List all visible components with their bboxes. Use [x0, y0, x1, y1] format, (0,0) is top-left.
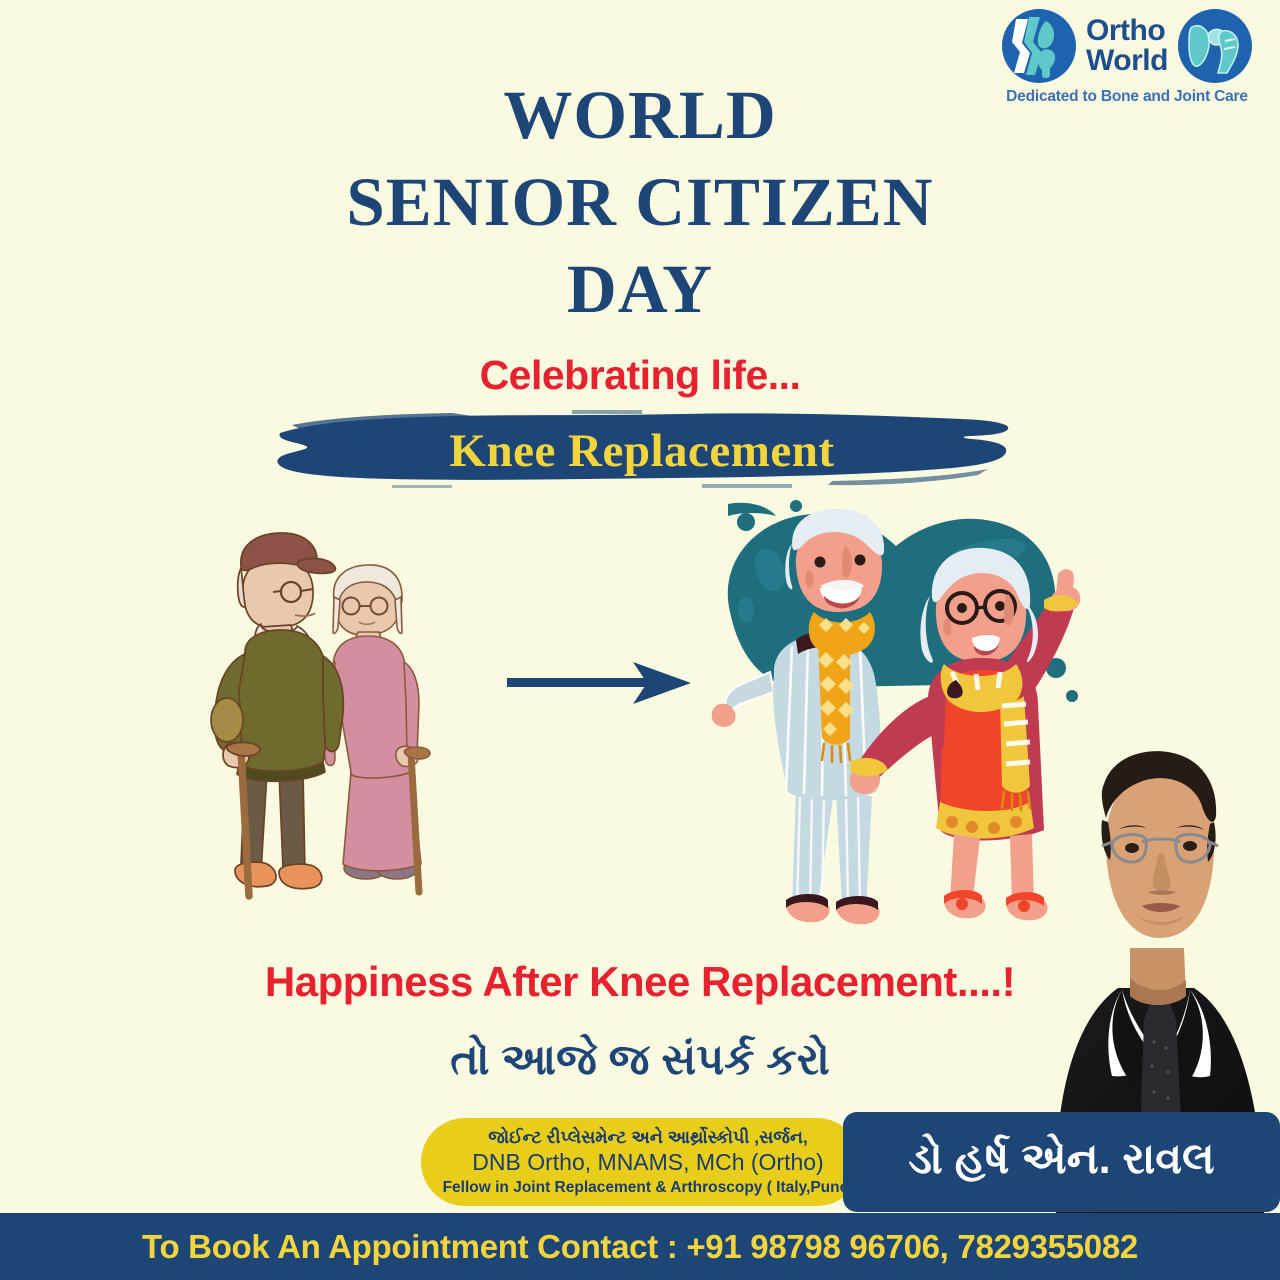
logo-wordmark: Ortho World [1086, 16, 1168, 76]
cta-gujarati-text: તો આજે જ સંપર્ક કરો [0, 1036, 1280, 1085]
logo-name-line1: Ortho [1086, 16, 1168, 46]
happiness-tagline: Happiness After Knee Replacement....! [0, 958, 1280, 1006]
poster-canvas: Ortho World Dedicated to Bone and Joint … [0, 0, 1280, 1280]
elderly-couple-with-canes-illustration [183, 472, 488, 932]
credentials-badge: જોઈન્ટ રીપ્લેસમેન્ટ અને આર્થ્રોસ્કોપી ,સ… [421, 1118, 861, 1206]
appointment-contact-text[interactable]: To Book An Appointment Contact : +91 987… [142, 1228, 1138, 1266]
credentials-line-1: જોઈન્ટ રીપ્લેસમેન્ટ અને આર્થ્રોસ્કોપી ,સ… [488, 1126, 808, 1148]
transformation-arrow [505, 648, 695, 718]
title-line-2: SENIOR CITIZEN [0, 159, 1280, 246]
title-line-3: DAY [0, 246, 1280, 333]
appointment-contact-bar: To Book An Appointment Contact : +91 987… [0, 1213, 1280, 1280]
credentials-line-3: Fellow in Joint Replacement & Arthroscop… [443, 1178, 854, 1198]
credentials-line-2: DNB Ortho, MNAMS, MCh (Ortho) [472, 1148, 823, 1178]
doctor-name-bar: ડો હર્ષ એન. રાવલ [843, 1112, 1280, 1212]
title-line-1: WORLD [0, 72, 1280, 159]
page-title: WORLD SENIOR CITIZEN DAY [0, 72, 1280, 333]
subtitle: Celebrating life... [0, 352, 1280, 399]
